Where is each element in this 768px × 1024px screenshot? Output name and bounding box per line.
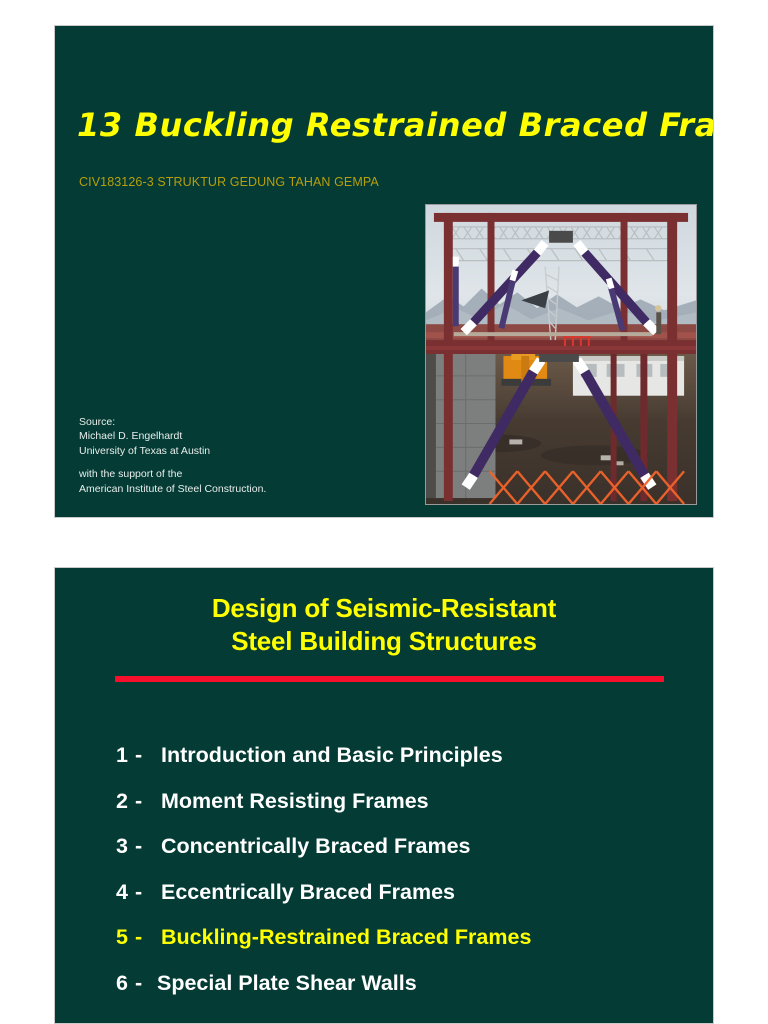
list-item-dash: - <box>135 925 161 950</box>
source-support-line: with the support of the <box>79 467 266 481</box>
list-item-number: 6 <box>116 971 135 996</box>
heading-divider-rule <box>115 676 664 682</box>
list-item[interactable]: 4 - Eccentrically Braced Frames <box>55 880 713 926</box>
construction-photo <box>425 204 697 505</box>
list-item-number: 2 <box>116 789 135 814</box>
list-item[interactable]: 3 - Concentrically Braced Frames <box>55 834 713 880</box>
source-affiliation: University of Texas at Austin <box>79 444 266 458</box>
list-item-dash: - <box>135 880 161 905</box>
list-item-label: Special Plate Shear Walls <box>157 971 417 996</box>
outline-heading-line-2: Steel Building Structures <box>55 625 713 658</box>
source-spacer <box>79 458 266 467</box>
outline-heading: Design of Seismic-Resistant Steel Buildi… <box>55 592 713 658</box>
source-author: Michael D. Engelhardt <box>79 429 266 443</box>
course-code-label: CIV183126-3 STRUKTUR GEDUNG TAHAN GEMPA <box>79 175 379 189</box>
list-item[interactable]: 2 - Moment Resisting Frames <box>55 789 713 835</box>
list-item-number: 3 <box>116 834 135 859</box>
list-item[interactable]: 6 - Special Plate Shear Walls <box>55 971 713 1017</box>
list-item-label: Moment Resisting Frames <box>161 789 429 814</box>
source-supporter: American Institute of Steel Construction… <box>79 482 266 496</box>
outline-heading-line-1: Design of Seismic-Resistant <box>55 592 713 625</box>
list-item-label: Introduction and Basic Principles <box>161 743 503 768</box>
list-item-dash: - <box>135 789 161 814</box>
list-item-label: Buckling-Restrained Braced Frames <box>161 925 531 950</box>
list-item-number: 1 <box>116 743 135 768</box>
title-slide: 13 Buckling Restrained Braced Frames CIV… <box>54 25 714 518</box>
list-item-dash: - <box>135 743 161 768</box>
outline-slide: Design of Seismic-Resistant Steel Buildi… <box>54 567 714 1024</box>
source-label: Source: <box>79 415 266 429</box>
list-item-number: 5 <box>116 925 135 950</box>
source-credits: Source: Michael D. Engelhardt University… <box>79 415 266 496</box>
list-item-label: Concentrically Braced Frames <box>161 834 471 859</box>
outline-item-list: 1 - Introduction and Basic Principles 2 … <box>55 743 713 1016</box>
list-item-label: Eccentrically Braced Frames <box>161 880 455 905</box>
list-item-number: 4 <box>116 880 135 905</box>
list-item-active[interactable]: 5 - Buckling-Restrained Braced Frames <box>55 925 713 971</box>
list-item-dash: - <box>135 834 161 859</box>
page-title: 13 Buckling Restrained Braced Frames <box>77 108 697 143</box>
construction-photo-graphic <box>426 205 696 504</box>
list-item[interactable]: 1 - Introduction and Basic Principles <box>55 743 713 789</box>
list-item-dash: - <box>135 971 157 996</box>
